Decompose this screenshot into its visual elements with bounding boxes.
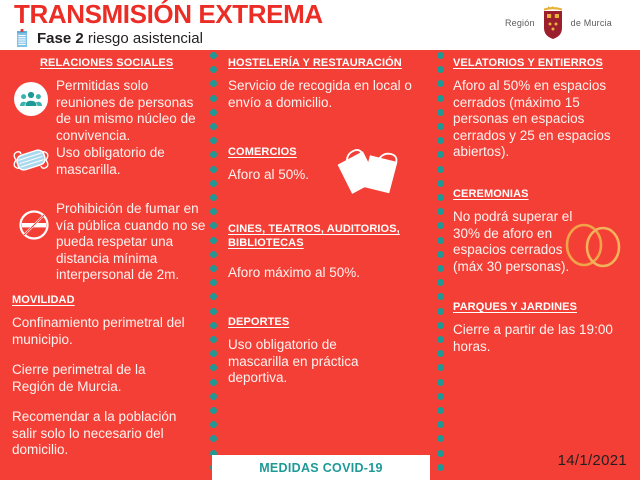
divider-dot bbox=[437, 279, 444, 286]
poster-title: TRANSMISIÓN EXTREMA bbox=[14, 0, 323, 28]
region-de-murcia-logo: Región de Murcia bbox=[505, 6, 612, 40]
divider-dot bbox=[437, 407, 444, 414]
column-ceremonies: VELATORIOS Y ENTIERROS Aforo al 50% en e… bbox=[453, 50, 631, 480]
divider-dot bbox=[210, 222, 217, 229]
divider-dot bbox=[437, 364, 444, 371]
divider-dot bbox=[210, 80, 217, 87]
divider-dot bbox=[210, 350, 217, 357]
no-smoking-icon bbox=[14, 208, 54, 247]
measure-text-reuniones: Permitidas solo reuniones de personas de… bbox=[56, 78, 206, 144]
section-heading-relaciones-sociales: RELACIONES SOCIALES bbox=[40, 56, 204, 70]
infographic-poster: TRANSMISIÓN EXTREMA Fase 2 riesgo asiste… bbox=[0, 0, 640, 480]
divider-dot bbox=[437, 66, 444, 73]
divider-dot bbox=[437, 421, 444, 428]
shopping-bags-icon bbox=[334, 138, 406, 205]
measures-panel: RELACIONES SOCIALES Permitidas solo reun… bbox=[0, 50, 640, 480]
divider-dot bbox=[210, 180, 217, 187]
divider-dot bbox=[210, 66, 217, 73]
divider-dot bbox=[210, 364, 217, 371]
murcia-coat-of-arms-icon bbox=[540, 6, 566, 40]
divider-dot bbox=[210, 137, 217, 144]
section-heading-velatorios: VELATORIOS Y ENTIERROS bbox=[453, 56, 633, 70]
divider-dot bbox=[437, 237, 444, 244]
covid-measures-badge: MEDIDAS COVID-19 bbox=[212, 455, 430, 480]
measure-text-cierre-perimetral: Cierre perimetral de la Región de Murcia… bbox=[12, 362, 192, 395]
measure-text-confinamiento: Confinamiento perimetral del municipio. bbox=[12, 315, 192, 348]
column-social: RELACIONES SOCIALES Permitidas solo reun… bbox=[8, 50, 204, 480]
divider-dot bbox=[210, 336, 217, 343]
face-mask-icon bbox=[10, 147, 52, 178]
divider-dot bbox=[210, 109, 217, 116]
divider-dot bbox=[210, 95, 217, 102]
measure-text-deportes: Uso obligatorio de mascarilla en práctic… bbox=[228, 337, 378, 387]
divider-dot bbox=[437, 435, 444, 442]
divider-dot bbox=[437, 265, 444, 272]
divider-dot bbox=[437, 251, 444, 258]
measure-text-velatorios: Aforo al 50% en espacios cerrados (máxim… bbox=[453, 78, 623, 161]
hospital-building-icon bbox=[14, 29, 30, 48]
divider-dot bbox=[210, 52, 217, 59]
divider-dot bbox=[210, 166, 217, 173]
section-heading-movilidad: MOVILIDAD bbox=[12, 293, 192, 307]
divider-dot bbox=[437, 194, 444, 201]
covid-measures-label: MEDIDAS COVID-19 bbox=[259, 461, 383, 475]
divider-dot bbox=[210, 435, 217, 442]
logo-word-left: Región bbox=[505, 18, 535, 28]
phase-row: Fase 2 riesgo asistencial bbox=[14, 29, 203, 48]
divider-dot bbox=[210, 421, 217, 428]
divider-dot bbox=[210, 293, 217, 300]
wedding-rings-icon bbox=[558, 218, 628, 277]
measure-text-aforo-cines: Aforo máximo al 50%. bbox=[228, 265, 424, 282]
group-of-people-icon bbox=[14, 82, 48, 116]
divider-dot bbox=[437, 180, 444, 187]
section-heading-hosteleria: HOSTELERÍA Y RESTAURACIÓN bbox=[228, 56, 428, 70]
divider-dot bbox=[437, 222, 444, 229]
section-heading-ceremonias: CEREMONIAS bbox=[453, 187, 623, 201]
divider-dot bbox=[210, 194, 217, 201]
column-commerce: HOSTELERÍA Y RESTAURACIÓN Servicio de re… bbox=[228, 50, 428, 480]
divider-dot bbox=[210, 407, 217, 414]
divider-dot bbox=[437, 350, 444, 357]
section-heading-cines: CINES, TEATROS, AUDITORIOS, BIBLIOTECAS bbox=[228, 222, 428, 250]
divider-dot bbox=[437, 95, 444, 102]
divider-dot bbox=[210, 251, 217, 258]
poster-header: TRANSMISIÓN EXTREMA Fase 2 riesgo asiste… bbox=[0, 0, 640, 50]
divider-dot bbox=[437, 293, 444, 300]
measure-text-recogida: Servicio de recogida en local o envío a … bbox=[228, 78, 424, 111]
divider-dot bbox=[210, 379, 217, 386]
section-heading-deportes: DEPORTES bbox=[228, 315, 424, 329]
divider-dot bbox=[437, 137, 444, 144]
date-stamp: 14/1/2021 bbox=[558, 452, 627, 469]
divider-dot bbox=[437, 80, 444, 87]
divider-dot bbox=[437, 393, 444, 400]
divider-dot bbox=[437, 123, 444, 130]
section-heading-parques: PARQUES Y JARDINES bbox=[453, 300, 633, 314]
divider-dot bbox=[210, 208, 217, 215]
measure-text-parques: Cierre a partir de las 19:00 horas. bbox=[453, 322, 623, 355]
measure-text-fumar: Prohibición de fumar en vía pública cuan… bbox=[56, 201, 208, 284]
divider-dot bbox=[210, 279, 217, 286]
divider-dot bbox=[210, 151, 217, 158]
divider-dot bbox=[210, 393, 217, 400]
phase-label: Fase 2 riesgo asistencial bbox=[37, 30, 203, 47]
column-divider-1 bbox=[210, 50, 219, 480]
divider-dot bbox=[437, 52, 444, 59]
measure-text-recomendar: Recomendar a la población salir solo lo … bbox=[12, 409, 200, 459]
divider-dot bbox=[437, 151, 444, 158]
column-divider-2 bbox=[437, 50, 446, 480]
measure-text-aforo-comercios: Aforo al 50%. bbox=[228, 167, 348, 184]
phase-rest: riesgo asistencial bbox=[84, 30, 203, 47]
divider-dot bbox=[210, 265, 217, 272]
divider-dot bbox=[437, 379, 444, 386]
divider-dot bbox=[437, 308, 444, 315]
divider-dot bbox=[437, 208, 444, 215]
divider-dot bbox=[437, 450, 444, 457]
divider-dot bbox=[437, 109, 444, 116]
divider-dot bbox=[210, 237, 217, 244]
measure-text-mascarilla: Uso obligatorio de mascarilla. bbox=[56, 145, 206, 178]
logo-word-right: de Murcia bbox=[571, 18, 612, 28]
divider-dot bbox=[210, 308, 217, 315]
divider-dot bbox=[437, 322, 444, 329]
divider-dot bbox=[210, 123, 217, 130]
divider-dot bbox=[437, 166, 444, 173]
divider-dot bbox=[437, 336, 444, 343]
phase-bold: Fase 2 bbox=[37, 30, 84, 47]
divider-dot bbox=[210, 322, 217, 329]
divider-dot bbox=[437, 464, 444, 471]
